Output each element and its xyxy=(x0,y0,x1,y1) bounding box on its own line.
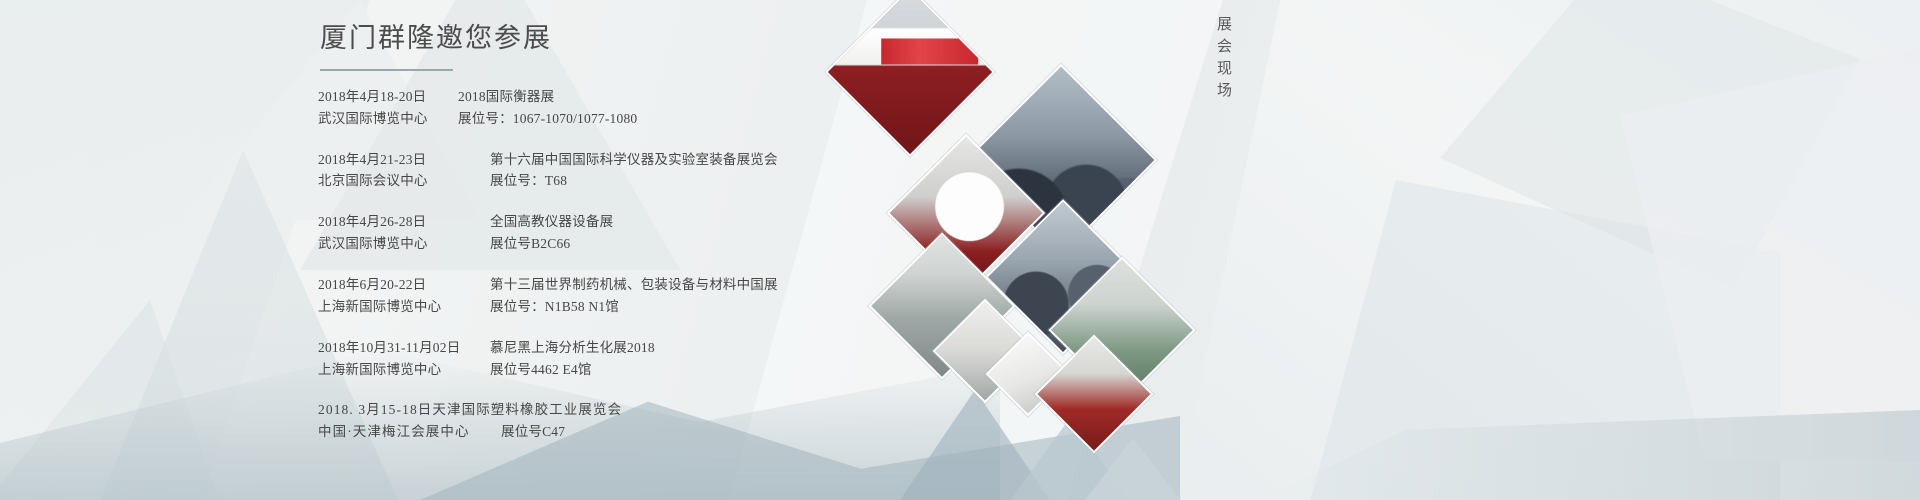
exhibition-entry-6-line-2: 中国·天津梅江会展中心 展位号C47 xyxy=(318,421,1078,443)
exhibition-entry-3-line-1: 2018年4月26-28日 全国高教仪器设备展 xyxy=(318,211,1078,233)
exhibition-venue: 北京国际会议中心 xyxy=(318,170,468,192)
exhibition-invitation-panel: 厦门群隆邀您参展 2018年4月18-20日 2018国际衡器展 武汉国际博览中… xyxy=(318,20,1078,462)
exhibition-entry-1-line-1: 2018年4月18-20日 2018国际衡器展 xyxy=(318,86,1078,108)
exhibition-booth: 展位号C47 xyxy=(501,421,565,443)
exhibition-entry-1-line-2: 武汉国际博览中心 展位号：1067-1070/1077-1080 xyxy=(318,108,1078,130)
exhibition-name: 全国高教仪器设备展 xyxy=(468,211,613,233)
exhibition-booth: 展位号：1067-1070/1077-1080 xyxy=(436,108,637,130)
title-underline-rule xyxy=(320,69,453,71)
exhibition-booth: 展位号B2C66 xyxy=(468,233,570,255)
exhibition-entry-5: 2018年10月31-11月02日 慕尼黑上海分析生化展2018 上海新国际博览… xyxy=(318,337,1078,381)
exhibition-booth: 展位号4462 E4馆 xyxy=(468,359,592,381)
exhibition-name: 第十六届中国国际科学仪器及实验室装备展览会 xyxy=(468,149,778,171)
exhibition-date: 2018年6月20-22日 xyxy=(318,274,468,296)
exhibition-name: 慕尼黑上海分析生化展2018 xyxy=(468,337,655,359)
exhibition-entry-6-line-1: 2018. 3月15-18日天津国际塑料橡胶工业展览会 xyxy=(318,399,1078,421)
vertical-caption: 展会现场 xyxy=(1213,16,1234,104)
exhibition-entry-3-line-2: 武汉国际博览中心 展位号B2C66 xyxy=(318,233,1078,255)
exhibition-date: 2018年10月31-11月02日 xyxy=(318,337,468,359)
exhibition-venue: 上海新国际博览中心 xyxy=(318,359,468,381)
exhibition-venue: 武汉国际博览中心 xyxy=(318,233,468,255)
exhibition-entry-3: 2018年4月26-28日 全国高教仪器设备展 武汉国际博览中心 展位号B2C6… xyxy=(318,211,1078,255)
exhibition-date: 2018. 3月15-18日天津国际塑料橡胶工业展览会 xyxy=(318,399,622,421)
exhibition-booth: 展位号：T68 xyxy=(468,170,567,192)
exhibition-venue: 中国·天津梅江会展中心 xyxy=(318,421,501,443)
exhibition-entry-6: 2018. 3月15-18日天津国际塑料橡胶工业展览会 中国·天津梅江会展中心 … xyxy=(318,399,1078,443)
exhibition-entry-2-line-1: 2018年4月21-23日 第十六届中国国际科学仪器及实验室装备展览会 xyxy=(318,149,1078,171)
exhibition-date: 2018年4月26-28日 xyxy=(318,211,468,233)
exhibition-entry-1: 2018年4月18-20日 2018国际衡器展 武汉国际博览中心 展位号：106… xyxy=(318,86,1078,130)
exhibition-date: 2018年4月18-20日 xyxy=(318,86,436,108)
exhibition-entry-5-line-2: 上海新国际博览中心 展位号4462 E4馆 xyxy=(318,359,1078,381)
exhibition-entry-4-line-2: 上海新国际博览中心 展位号：N1B58 N1馆 xyxy=(318,296,1078,318)
exhibition-name: 2018国际衡器展 xyxy=(436,86,554,108)
exhibition-entry-5-line-1: 2018年10月31-11月02日 慕尼黑上海分析生化展2018 xyxy=(318,337,1078,359)
exhibition-name: 第十三届世界制药机械、包装设备与材料中国展 xyxy=(468,274,778,296)
exhibition-entry-2-line-2: 北京国际会议中心 展位号：T68 xyxy=(318,170,1078,192)
exhibition-date: 2018年4月21-23日 xyxy=(318,149,468,171)
exhibition-venue: 武汉国际博览中心 xyxy=(318,108,436,130)
exhibition-booth: 展位号：N1B58 N1馆 xyxy=(468,296,619,318)
page-title: 厦门群隆邀您参展 xyxy=(318,20,1078,58)
exhibition-entry-4-line-1: 2018年6月20-22日 第十三届世界制药机械、包装设备与材料中国展 xyxy=(318,274,1078,296)
exhibition-entry-2: 2018年4月21-23日 第十六届中国国际科学仪器及实验室装备展览会 北京国际… xyxy=(318,149,1078,193)
exhibition-venue: 上海新国际博览中心 xyxy=(318,296,468,318)
exhibition-entry-4: 2018年6月20-22日 第十三届世界制药机械、包装设备与材料中国展 上海新国… xyxy=(318,274,1078,318)
